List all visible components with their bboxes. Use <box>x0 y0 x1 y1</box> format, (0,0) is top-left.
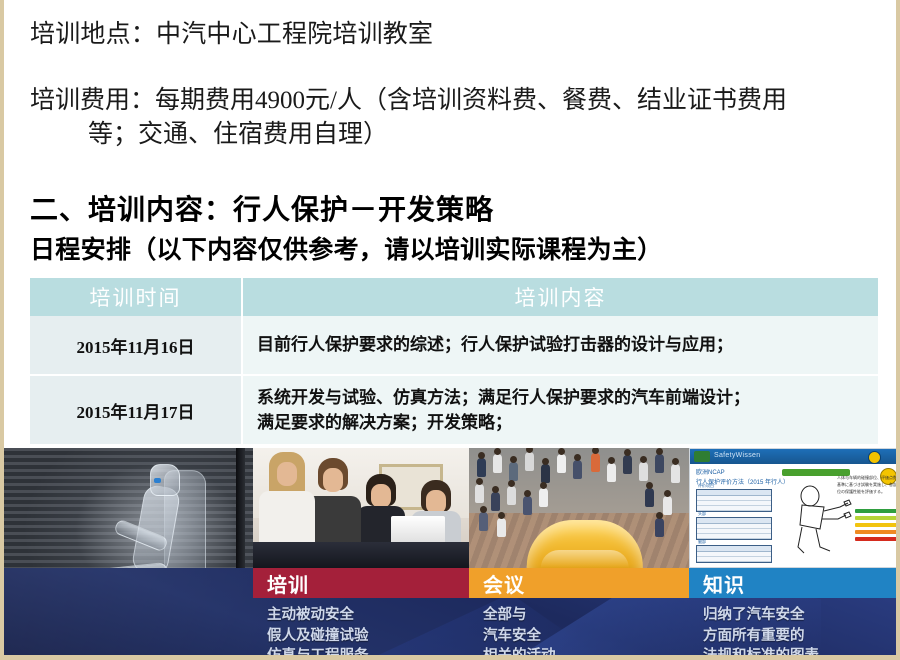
cell-content: 目前行人保护要求的综述；行人保护试验打击器的设计与应用； <box>242 316 878 375</box>
crowd-person <box>573 460 582 479</box>
legend-swatch-lime <box>855 516 896 520</box>
legend-swatch-yellow <box>855 523 896 527</box>
cell-date: 2015年11月17日 <box>30 375 242 444</box>
category-meeting-label: 会议 <box>469 568 689 598</box>
sheet-table <box>696 517 772 540</box>
column-header-content: 培训内容 <box>242 278 878 316</box>
photo-person <box>259 452 315 544</box>
schedule-table: 培训时间 培训内容 2015年11月16日 目前行人保护要求的综述；行人保护试验… <box>30 278 878 444</box>
category-meeting-desc: 全部与 汽车安全 相关的活动 <box>469 605 689 655</box>
bottom-media-strip: SafetyWissen 欧洲NCAP 行人保护评价方法（2015 年行人） 评… <box>4 448 896 655</box>
slide-text-area: 培训地点：中汽中心工程院培训教室 培训费用：每期费用4900元/人（含培训资料费… <box>30 14 880 266</box>
desc-line: 假人及碰撞试验 <box>267 626 469 647</box>
desc-line: 全部与 <box>483 605 689 626</box>
cell-content-line: 满足要求的解决方案；开发策略； <box>257 410 868 436</box>
person-face <box>323 468 343 492</box>
crowd-person <box>507 486 516 505</box>
crowd-person <box>491 492 500 511</box>
desc-line: 法规和标准的图表 <box>703 646 896 655</box>
crowd-person <box>477 458 486 477</box>
person-face <box>277 462 297 486</box>
slide-canvas: 培训地点：中汽中心工程院培训教室 培训费用：每期费用4900元/人（含培训资料费… <box>0 0 900 660</box>
crowd-person <box>493 454 502 473</box>
pedestrian-figure-diagram <box>786 485 860 557</box>
sheet-legend <box>855 509 896 544</box>
sheet-brand-label: SafetyWissen <box>714 452 760 459</box>
training-venue-line: 培训地点：中汽中心工程院培训教室 <box>30 14 880 50</box>
crowd-person <box>523 496 532 515</box>
cell-content-line: 系统开发与试验、仿真方法；满足行人保护要求的汽车前端设计； <box>257 385 868 411</box>
section-note: 日程安排（以下内容仅供参考，请以培训实际课程为主） <box>30 230 880 266</box>
section-heading: 二、培训内容：行人保护－开发策略 <box>30 188 880 228</box>
crowd-person <box>655 454 664 473</box>
crowd-person <box>645 488 654 507</box>
desc-line: 归纳了汽车安全 <box>703 605 896 626</box>
crowd-person <box>525 452 534 471</box>
crowd-person <box>671 464 680 483</box>
desc-line: 相关的活动 <box>483 646 689 655</box>
crowd-person <box>663 496 672 515</box>
sheet-table-row <box>697 506 771 511</box>
training-fee-line-1: 培训费用：每期费用4900元/人（含培训资料费、餐费、结业证书费用 <box>30 87 787 114</box>
desc-line: 仿真与工程服务 <box>267 646 469 655</box>
training-fee-line-2: 等；交通、住宿费用自理） <box>30 118 880 152</box>
category-training-label: 培训 <box>253 568 469 598</box>
classroom-training-photo <box>253 448 469 568</box>
sheet-table <box>696 489 772 512</box>
desc-line: 主动被动安全 <box>267 605 469 626</box>
crowd-person <box>509 462 518 481</box>
cell-content: 系统开发与试验、仿真方法；满足行人保护要求的汽车前端设计； 满足要求的解决方案；… <box>242 375 878 444</box>
category-knowledge: 知识 归纳了汽车安全 方面所有重要的 法规和标准的图表 <box>689 568 896 655</box>
safetywissen-datasheet-photo: SafetyWissen 欧洲NCAP 行人保护评价方法（2015 年行人） 评… <box>689 448 896 568</box>
sheet-title-line-1: 欧洲NCAP <box>696 469 789 479</box>
person-face <box>371 484 391 508</box>
crowd-person <box>541 464 550 483</box>
desc-line: 汽车安全 <box>483 626 689 647</box>
legend-swatch-green <box>855 509 896 513</box>
crowd-person <box>479 512 488 531</box>
cell-date: 2015年11月16日 <box>30 316 242 375</box>
crowd-person <box>591 453 600 472</box>
category-knowledge-label: 知识 <box>689 568 896 598</box>
person-body <box>259 491 315 544</box>
dummy-head <box>150 464 180 496</box>
sheet-table-row <box>697 557 771 562</box>
cell-content-line: 目前行人保护要求的综述；行人保护试验打击器的设计与应用； <box>257 332 868 358</box>
crowd-person <box>557 454 566 473</box>
category-knowledge-desc: 归纳了汽车安全 方面所有重要的 法规和标准的图表 <box>689 605 896 655</box>
legend-swatch-red <box>855 537 896 541</box>
column-header-time: 培训时间 <box>30 278 242 316</box>
sheet-badge-icon <box>868 451 881 464</box>
sheet-table <box>696 545 772 563</box>
table-row: 2015年11月16日 目前行人保护要求的综述；行人保护试验打击器的设计与应用； <box>30 316 878 375</box>
legend-swatch-orange <box>855 530 896 534</box>
table-header-row: 培训时间 培训内容 <box>30 278 878 316</box>
crowd-person <box>623 455 632 474</box>
crowd-person <box>655 518 664 537</box>
category-meeting: 会议 全部与 汽车安全 相关的活动 <box>469 568 689 655</box>
category-training: 培训 主动被动安全 假人及碰撞试验 仿真与工程服务 <box>253 568 469 655</box>
crowd-person <box>539 488 548 507</box>
desc-line: 方面所有重要的 <box>703 626 896 647</box>
category-training-desc: 主动被动安全 假人及碰撞试验 仿真与工程服务 <box>253 605 469 655</box>
crowd-person <box>639 462 648 481</box>
table-row: 2015年11月17日 系统开发与试验、仿真方法；满足行人保护要求的汽车前端设计… <box>30 375 878 444</box>
safetywissen-logo-icon <box>694 451 710 462</box>
sheet-table-row <box>697 534 771 539</box>
crowd-person <box>497 518 506 537</box>
training-fee-block: 培训费用：每期费用4900元/人（含培训资料费、餐费、结业证书费用 等；交通、住… <box>30 84 880 152</box>
category-banner: 培训 主动被动安全 假人及碰撞试验 仿真与工程服务 会议 全部与 汽车安全 相关… <box>4 568 896 655</box>
crowd-car-show-photo <box>469 448 689 568</box>
crowd-person <box>475 484 484 503</box>
photo-desk <box>253 542 469 568</box>
crowd-person <box>607 463 616 482</box>
